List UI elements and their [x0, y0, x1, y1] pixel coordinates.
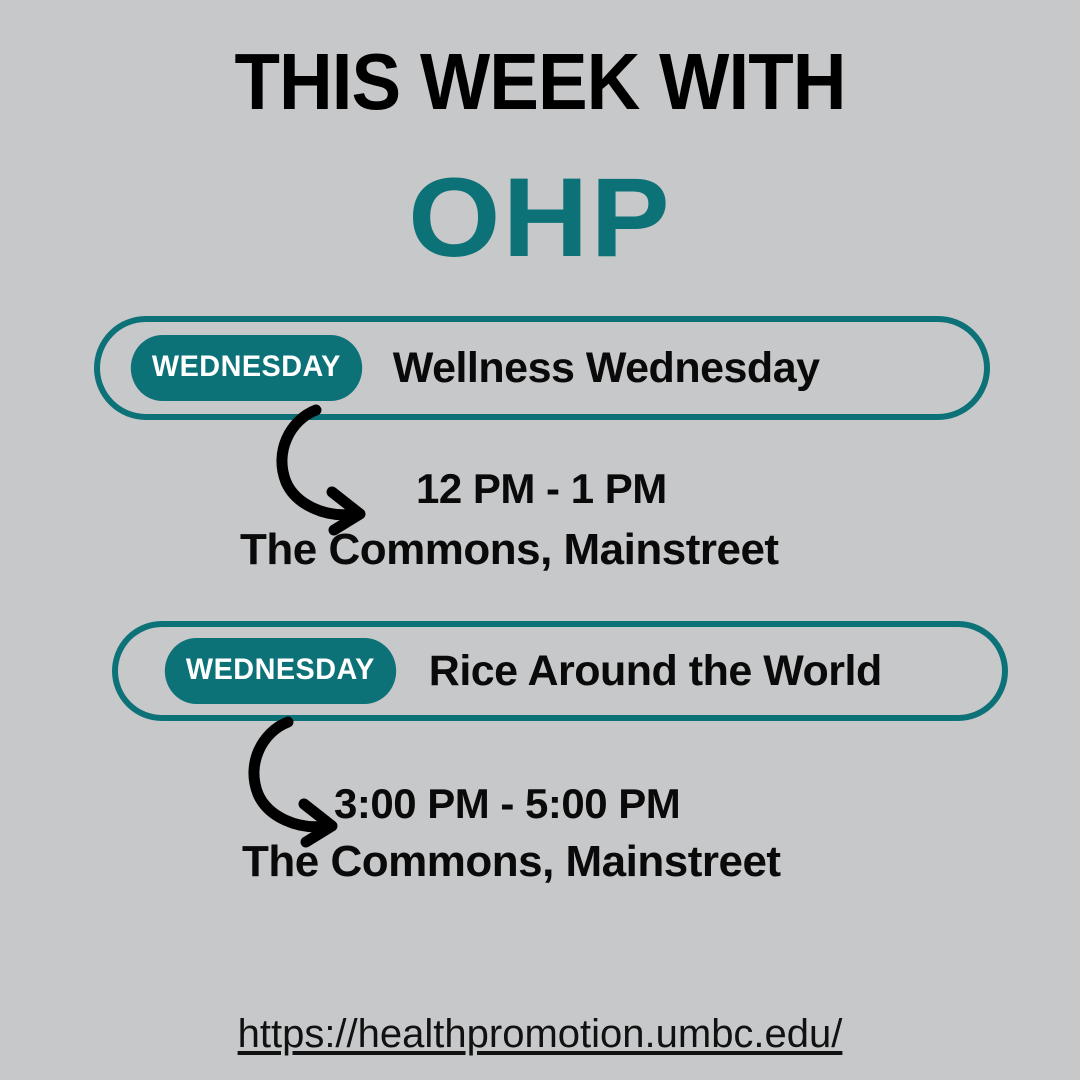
poster-header: THIS WEEK WITH OHP: [0, 42, 1080, 274]
event-day-badge-1: WEDNESDAY: [131, 335, 362, 401]
event-card-2[interactable]: WEDNESDAY Rice Around the World: [112, 621, 1008, 721]
event-location-1: The Commons, Mainstreet: [240, 528, 779, 572]
poster-brand-ohp: OHP: [0, 162, 1080, 274]
poster-canvas: THIS WEEK WITH OHP WEDNESDAY Wellness We…: [0, 0, 1080, 1080]
curved-arrow-down-right-icon-1: [268, 404, 378, 534]
event-time-1: 12 PM - 1 PM: [416, 468, 667, 510]
website-url-link[interactable]: https://healthpromotion.umbc.edu/: [0, 1012, 1080, 1057]
poster-headline: THIS WEEK WITH: [38, 42, 1042, 122]
event-time-2: 3:00 PM - 5:00 PM: [334, 783, 680, 825]
event-title-1: Wellness Wednesday: [393, 347, 820, 390]
event-card-1[interactable]: WEDNESDAY Wellness Wednesday: [94, 316, 990, 420]
event-location-2: The Commons, Mainstreet: [242, 840, 781, 884]
event-day-badge-2: WEDNESDAY: [165, 638, 396, 704]
event-title-2: Rice Around the World: [429, 650, 882, 693]
